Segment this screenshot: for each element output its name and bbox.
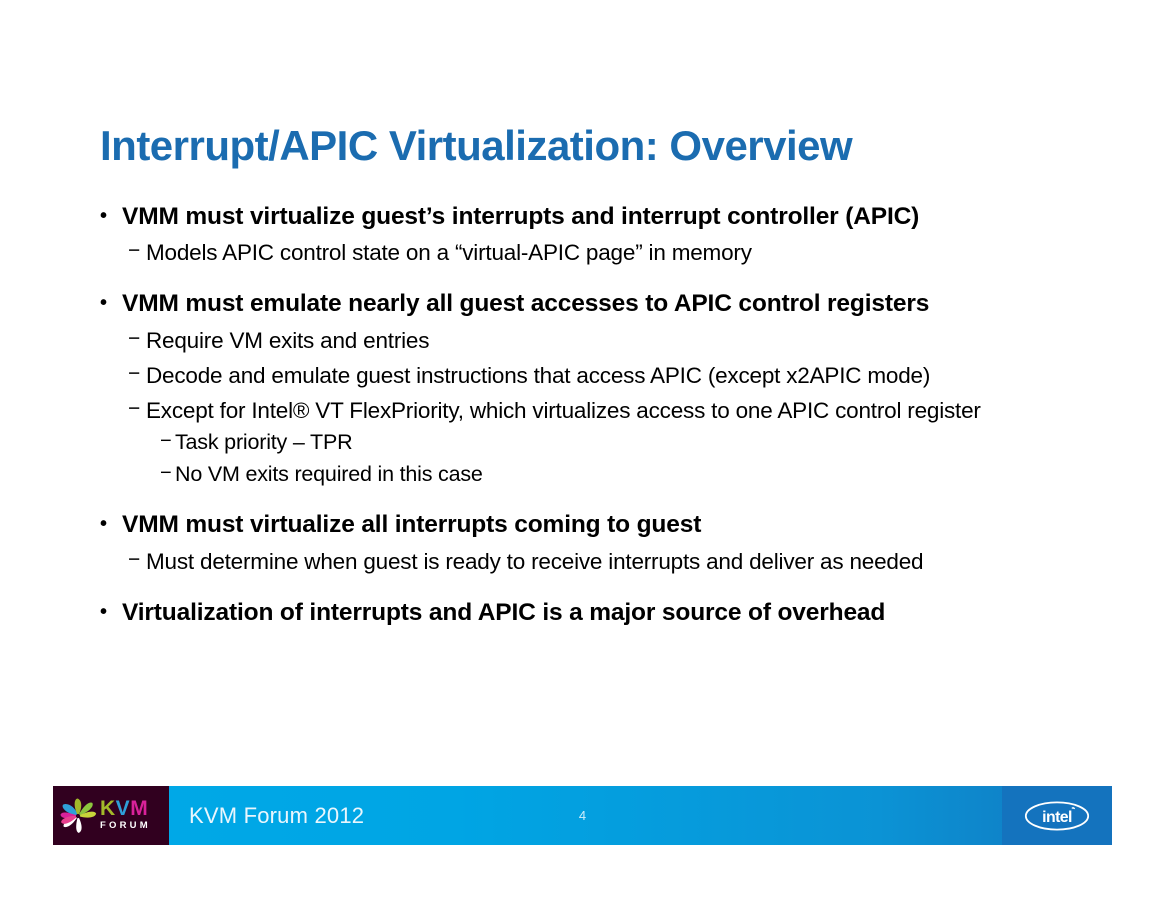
intel-logo: intel xyxy=(1002,786,1112,845)
svg-text:intel: intel xyxy=(1042,809,1072,826)
bullet-level-1: •Virtualization of interrupts and APIC i… xyxy=(100,599,1100,627)
bullet-marker: • xyxy=(100,290,122,318)
bullet-level-2: −Must determine when guest is ready to r… xyxy=(128,548,1100,575)
intel-logo-mark: intel xyxy=(1023,800,1091,832)
slide-canvas: Interrupt/APIC Virtualization: Overview … xyxy=(0,0,1164,899)
bullet-marker: • xyxy=(100,511,122,539)
bullet-text: VMM must virtualize all interrupts comin… xyxy=(122,511,1100,539)
bullet-level-2: −Models APIC control state on a “virtual… xyxy=(128,239,1100,266)
bullet-text: VMM must virtualize guest’s interrupts a… xyxy=(122,203,1100,231)
footer-conference-name: KVM Forum 2012 xyxy=(189,786,364,845)
page-title: Interrupt/APIC Virtualization: Overview xyxy=(100,122,1060,169)
bullet-list: •VMM must virtualize guest’s interrupts … xyxy=(100,203,1100,627)
bullet-level-1: •VMM must emulate nearly all guest acces… xyxy=(100,290,1100,318)
bullet-text: Task priority – TPR xyxy=(175,430,1100,456)
bullet-text: Models APIC control state on a “virtual-… xyxy=(146,239,1100,266)
kvm-forum-logo: KVM FORUM xyxy=(53,786,169,845)
bullet-marker: − xyxy=(128,362,146,387)
bullet-text: Decode and emulate guest instructions th… xyxy=(146,362,1100,389)
bullet-text: No VM exits required in this case xyxy=(175,462,1100,488)
bullet-level-1: •VMM must virtualize guest’s interrupts … xyxy=(100,203,1100,231)
pinwheel-icon xyxy=(58,796,98,836)
bullet-marker: − xyxy=(160,430,175,454)
bullet-level-2: −Except for Intel® VT FlexPriority, whic… xyxy=(128,397,1100,424)
kvm-wordmark: KVM FORUM xyxy=(100,798,151,833)
bullet-level-3: −No VM exits required in this case xyxy=(160,462,1100,488)
bullet-marker: − xyxy=(128,327,146,352)
bullet-text: Except for Intel® VT FlexPriority, which… xyxy=(146,397,1100,424)
slide-footer-bar: KVM FORUM KVM Forum 2012 4 intel xyxy=(53,786,1112,845)
bullet-marker: − xyxy=(128,239,146,264)
bullet-marker: • xyxy=(100,203,122,231)
kvm-letter-m: M xyxy=(130,797,148,820)
bullet-text: Require VM exits and entries xyxy=(146,327,1100,354)
bullet-marker: − xyxy=(160,462,175,486)
bullet-text: Virtualization of interrupts and APIC is… xyxy=(122,599,1100,627)
bullet-text: Must determine when guest is ready to re… xyxy=(146,548,1100,575)
bullet-marker: • xyxy=(100,599,122,627)
bullet-level-1: •VMM must virtualize all interrupts comi… xyxy=(100,511,1100,539)
kvm-logo-subtitle: FORUM xyxy=(100,819,151,833)
bullet-level-2: −Decode and emulate guest instructions t… xyxy=(128,362,1100,389)
bullet-marker: − xyxy=(128,548,146,573)
bullet-marker: − xyxy=(128,397,146,422)
bullet-text: VMM must emulate nearly all guest access… xyxy=(122,290,1100,318)
bullet-level-3: −Task priority – TPR xyxy=(160,430,1100,456)
kvm-letter-v: V xyxy=(116,797,131,820)
kvm-letter-k: K xyxy=(100,797,116,820)
bullet-level-2: −Require VM exits and entries xyxy=(128,327,1100,354)
